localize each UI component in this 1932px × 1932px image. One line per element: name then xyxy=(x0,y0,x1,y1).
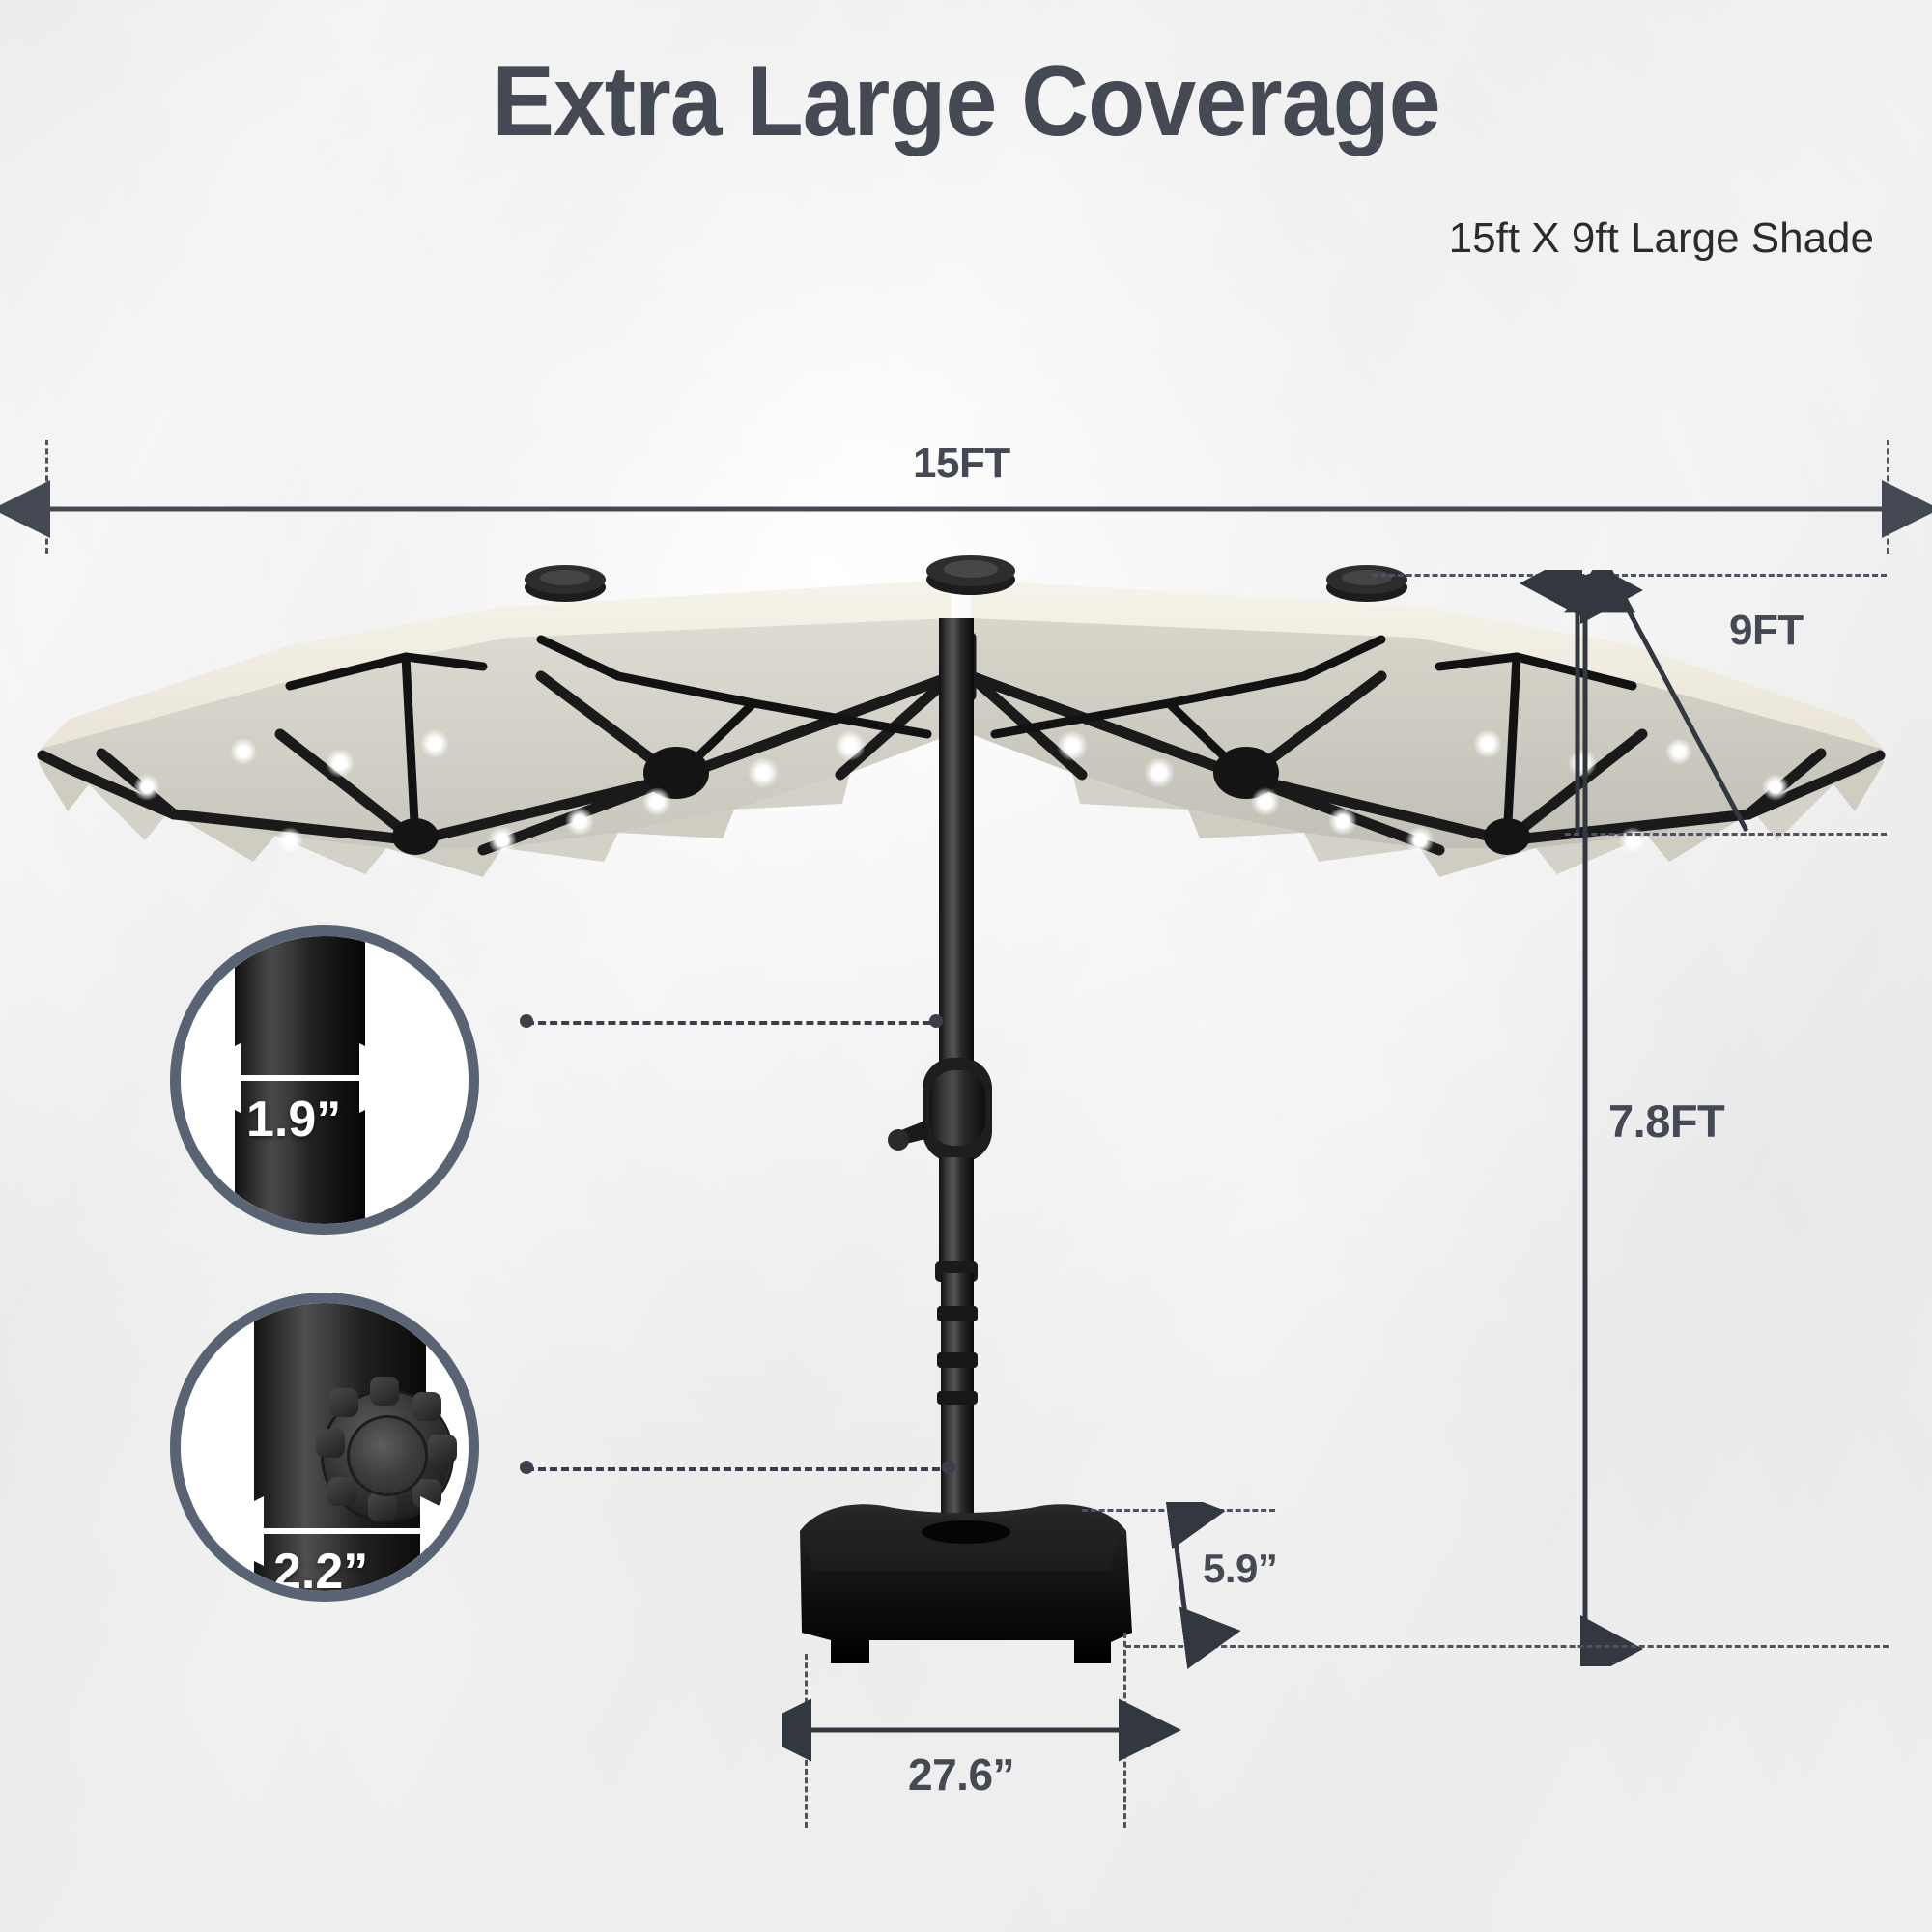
dim-59-arrow xyxy=(1111,1502,1265,1686)
callout-pole-diameter: 1.9” xyxy=(170,925,479,1235)
pole-upper xyxy=(939,618,974,1072)
dim-9ft-label: 9FT xyxy=(1729,607,1804,655)
callout-leader-dot-2b xyxy=(942,1461,955,1474)
solar-panel-caps xyxy=(525,555,1407,602)
dim-78ft-label: 7.8FT xyxy=(1608,1094,1724,1148)
callout-base-pole-diameter: 2.2” xyxy=(170,1293,479,1602)
umbrella-base xyxy=(800,1504,1132,1663)
callout-1-clip: 1.9” xyxy=(181,936,469,1224)
callout-leader-line-1 xyxy=(526,1021,942,1025)
callout-leader-dot-1 xyxy=(520,1014,533,1028)
crank-housing xyxy=(888,1058,992,1162)
callout-leader-dot-1b xyxy=(929,1014,943,1028)
dim-15ft-label: 15FT xyxy=(913,440,1010,488)
callout-2-clip: 2.2” xyxy=(181,1303,469,1591)
callout-1-label: 1.9” xyxy=(246,1091,341,1149)
callout-leader-dot-2 xyxy=(520,1461,533,1474)
infographic-canvas: Extra Large Coverage 15ft X 9ft Large Sh… xyxy=(0,0,1932,1932)
dim-276-label: 27.6” xyxy=(908,1748,1014,1801)
dim-59-label: 5.9” xyxy=(1203,1546,1277,1592)
callout-leader-line-2 xyxy=(526,1467,952,1471)
callout-2-label: 2.2” xyxy=(273,1543,368,1591)
callout-1-measure-arrow xyxy=(181,936,469,1224)
